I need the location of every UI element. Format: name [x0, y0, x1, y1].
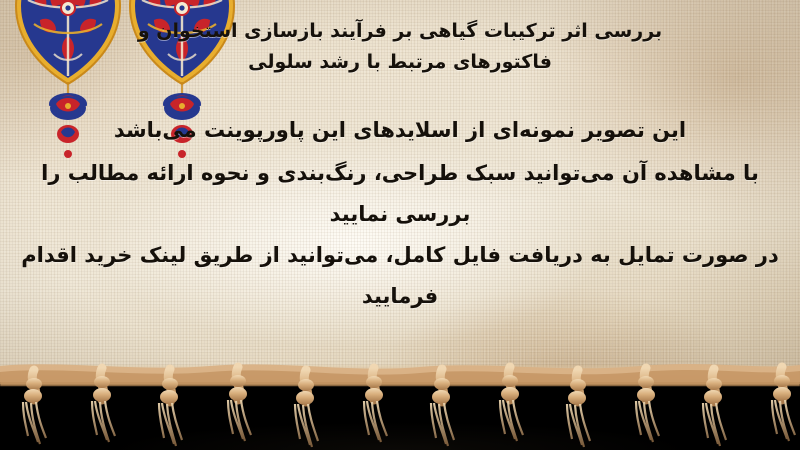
knotted-tassel-fringe-icon	[0, 360, 800, 450]
slide-title: بررسی اثر ترکیبات گیاهی بر فرآیند بازساز…	[18, 16, 782, 78]
slide-title-line-2: فاکتورهای مرتبط با رشد سلولی	[18, 47, 782, 78]
slide-body-line-1: این تصویر نمونه‌ای از اسلایدهای این پاور…	[18, 110, 782, 151]
slide-body-line-3: در صورت تمایل به دریافت فایل کامل، می‌تو…	[18, 235, 782, 317]
slide-canvas: بررسی اثر ترکیبات گیاهی بر فرآیند بازساز…	[0, 0, 800, 450]
slide-body-line-2: با مشاهده آن می‌توانید سبک طراحی، رنگ‌بن…	[18, 153, 782, 235]
slide-body: این تصویر نمونه‌ای از اسلایدهای این پاور…	[18, 110, 782, 317]
slide-title-line-1: بررسی اثر ترکیبات گیاهی بر فرآیند بازساز…	[138, 20, 662, 42]
